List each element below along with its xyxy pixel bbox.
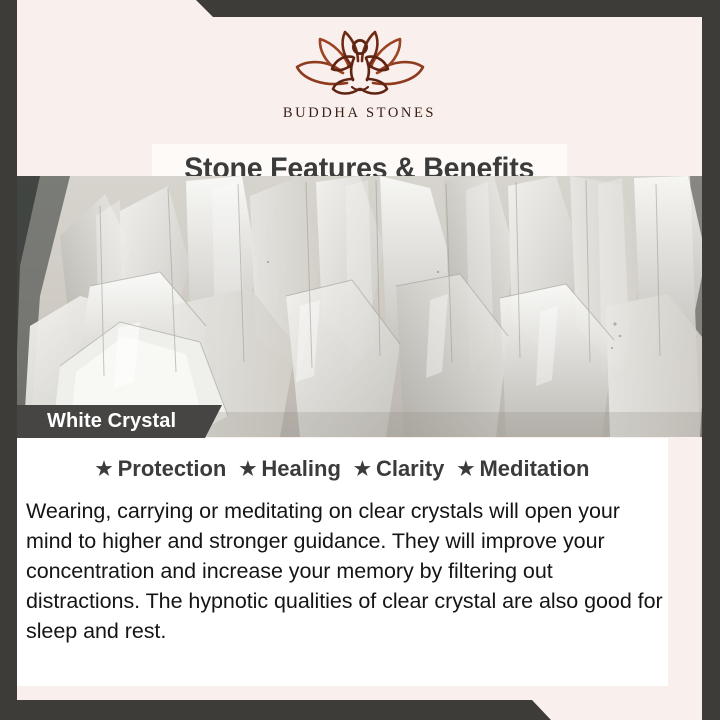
- brand-lockup: BUDDHA STONES: [17, 25, 702, 122]
- crystal-cluster-illustration: [17, 176, 702, 437]
- stone-name-banner: White Crystal: [17, 405, 222, 438]
- frame-right-edge: [702, 0, 720, 720]
- stone-description: Wearing, carrying or meditating on clear…: [26, 496, 666, 646]
- benefit-item-clarity: ★ Clarity: [354, 456, 445, 482]
- hero-crystal-image: [17, 176, 702, 437]
- product-info-card: BUDDHA STONES Stone Features & Benefits: [0, 0, 720, 720]
- benefit-item-healing: ★ Healing: [239, 456, 341, 482]
- benefit-label: Clarity: [376, 456, 444, 482]
- benefit-item-meditation: ★ Meditation: [457, 456, 589, 482]
- benefit-label: Meditation: [479, 456, 589, 482]
- frame-left-edge: [0, 0, 17, 720]
- star-icon: ★: [96, 460, 113, 479]
- benefits-section: ★ Protection ★ Healing ★ Clarity ★ Medit…: [17, 438, 668, 686]
- benefits-list: ★ Protection ★ Healing ★ Clarity ★ Medit…: [17, 456, 668, 482]
- brand-name: BUDDHA STONES: [283, 105, 436, 122]
- benefit-item-protection: ★ Protection: [96, 456, 227, 482]
- benefit-label: Protection: [118, 456, 227, 482]
- star-icon: ★: [354, 460, 371, 479]
- star-icon: ★: [457, 460, 474, 479]
- lotus-meditation-logo-icon: [285, 25, 435, 103]
- stone-name-label: White Crystal: [47, 410, 176, 433]
- star-icon: ★: [239, 460, 256, 479]
- benefit-label: Healing: [261, 456, 340, 482]
